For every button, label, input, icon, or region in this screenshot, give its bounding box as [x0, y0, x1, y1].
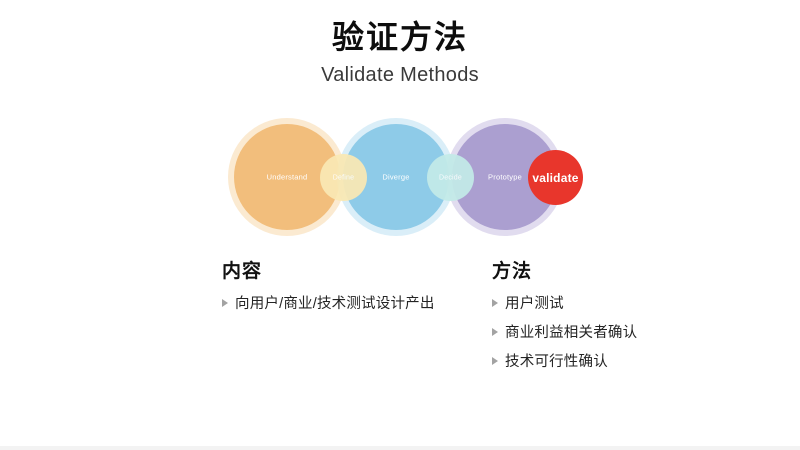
content-column-heading: 内容: [222, 262, 472, 283]
method-column-heading: 方法: [492, 262, 742, 283]
validate-circle[interactable]: validate: [528, 150, 583, 205]
list-item: 技术可行性确认: [492, 353, 742, 371]
triangle-bullet-icon: [492, 353, 505, 367]
list-item: 用户测试: [492, 295, 742, 313]
slide-root: 验证方法 Validate Methods Understand Diverge…: [0, 0, 800, 450]
triangle-bullet-icon: [492, 295, 505, 309]
page-subtitle-english: Validate Methods: [0, 63, 800, 87]
list-item: 向用户/商业/技术测试设计产出: [222, 295, 472, 313]
content-bullet-text: 向用户/商业/技术测试设计产出: [235, 295, 435, 313]
define-label: Define: [320, 174, 367, 181]
decide-circle[interactable]: Decide: [427, 154, 474, 201]
triangle-bullet-icon: [492, 324, 505, 338]
method-bullet-text: 技术可行性确认: [505, 353, 608, 371]
define-circle[interactable]: Define: [320, 154, 367, 201]
content-column: 内容 向用户/商业/技术测试设计产出: [222, 262, 472, 324]
method-column: 方法 用户测试 商业利益相关者确认 技术可行性确认: [492, 262, 742, 382]
bottom-divider: [0, 446, 800, 450]
slide-title-block: 验证方法 Validate Methods: [0, 18, 800, 87]
list-item: 商业利益相关者确认: [492, 324, 742, 342]
page-title-chinese: 验证方法: [0, 18, 800, 56]
method-bullet-text: 商业利益相关者确认: [505, 324, 637, 342]
validate-label: validate: [528, 171, 583, 185]
method-bullet-text: 用户测试: [505, 295, 564, 313]
decide-label: Decide: [427, 174, 474, 181]
design-sprint-process-diagram: Understand Diverge Prototype Define Deci…: [225, 112, 590, 244]
triangle-bullet-icon: [222, 295, 235, 309]
